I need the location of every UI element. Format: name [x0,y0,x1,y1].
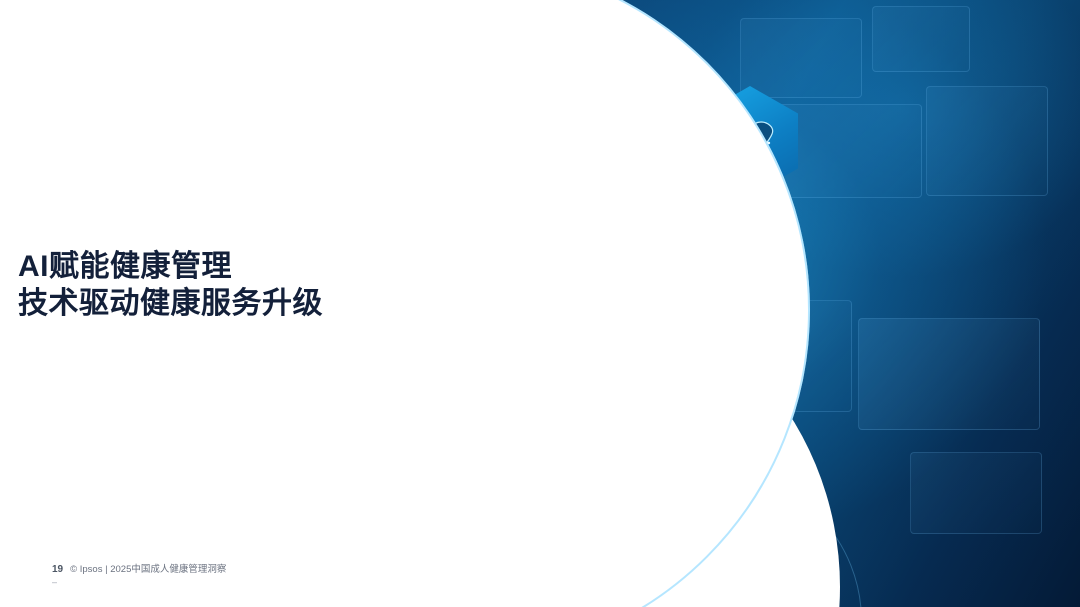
page-title: AI赋能健康管理 技术驱动健康服务升级 [18,248,488,322]
decor-rect [872,6,970,72]
slide-footer: 19 © Ipsos | 2025中国成人健康管理洞察 [52,561,226,575]
decor-rect [926,86,1048,196]
page-number: 19 [52,564,63,575]
hero-image-panel: do eiusmod tempor m veniam, quis nostrud… [440,0,1080,607]
decor-rect [740,18,862,98]
decor-rect [858,318,1040,430]
footer-text: © Ipsos | 2025中国成人健康管理洞察 [70,561,226,575]
slide-canvas: do eiusmod tempor m veniam, quis nostrud… [0,0,1080,607]
title-line-2: 技术驱动健康服务升级 [18,285,488,322]
footer-dash: – [52,578,57,586]
decor-rect [910,452,1042,534]
title-line-1: AI赋能健康管理 [18,248,488,285]
hero-image-background: do eiusmod tempor m veniam, quis nostrud… [440,0,1080,607]
